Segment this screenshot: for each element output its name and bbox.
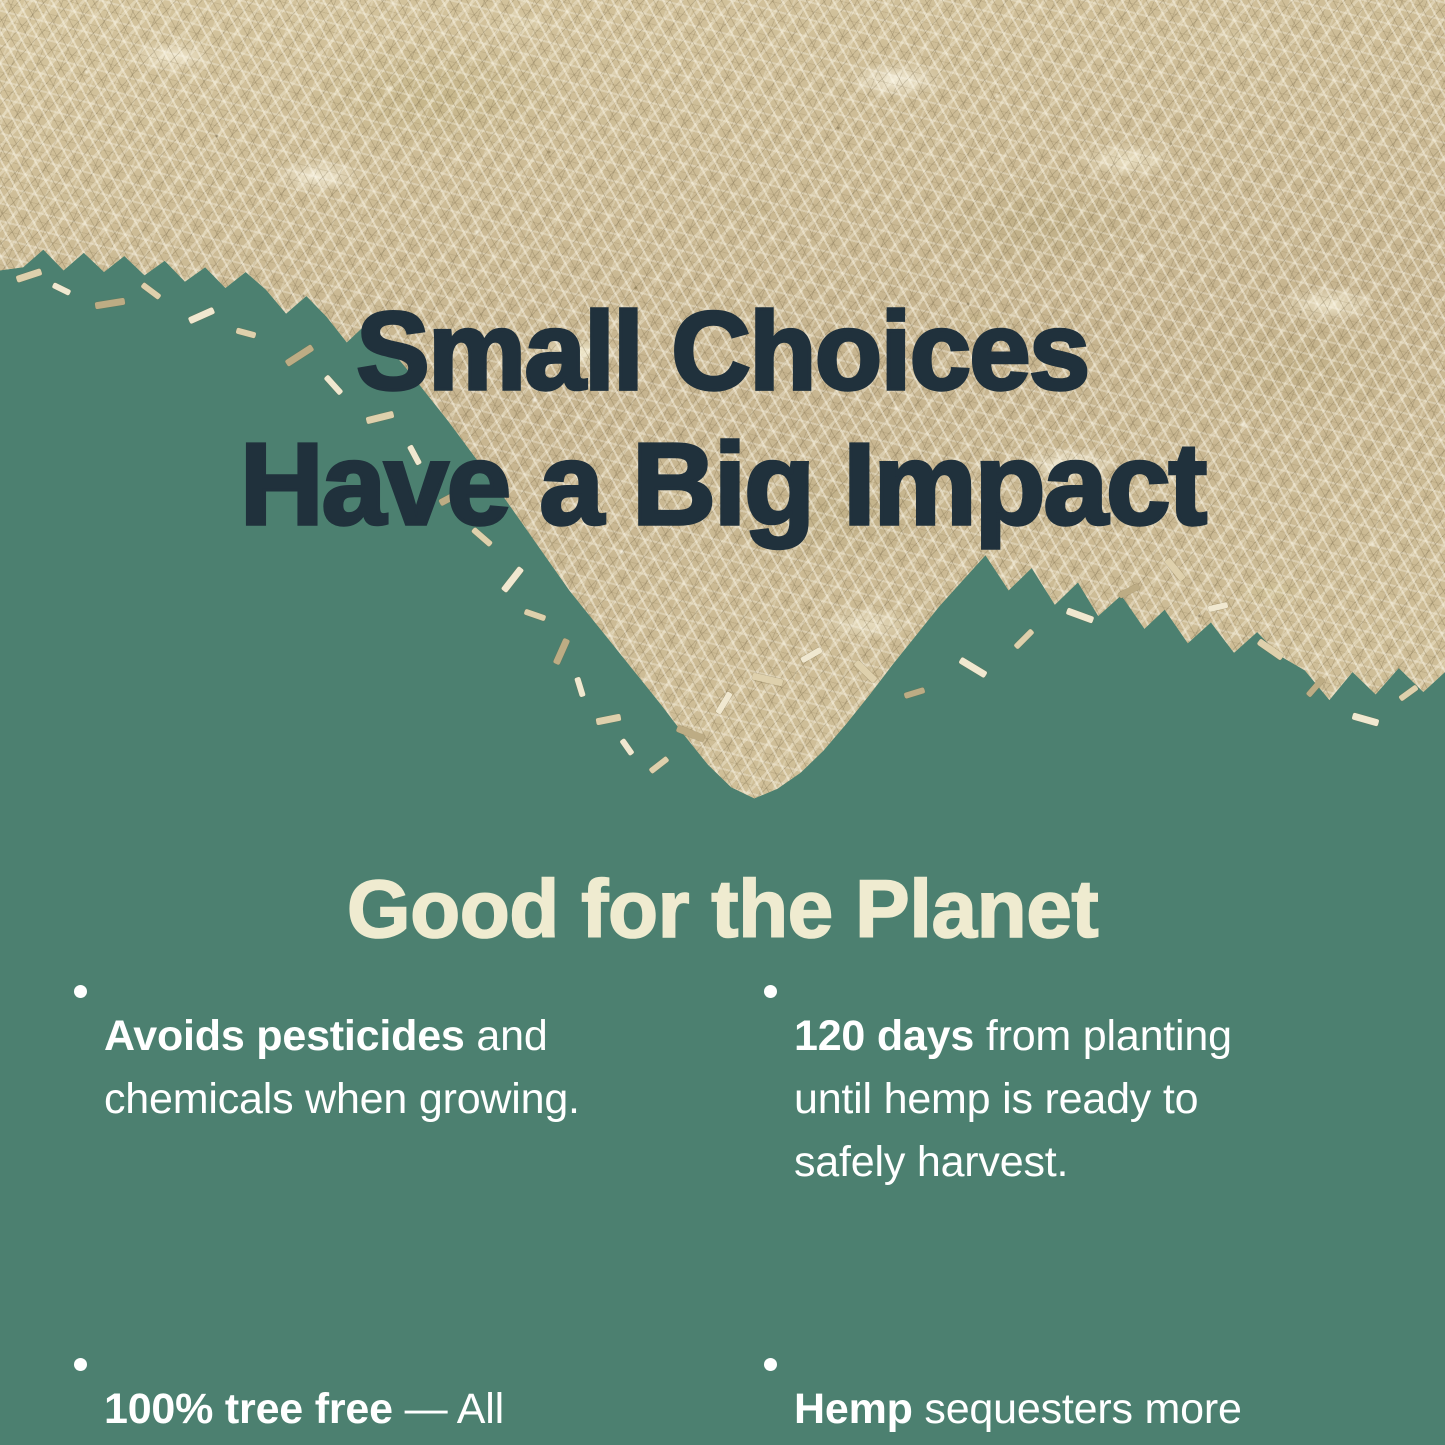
bullet-dot-icon: [74, 1358, 87, 1371]
bullet-item-tree-free: 100% tree free — All Walks combats defor…: [74, 1335, 764, 1445]
bullet-item-hemp-sequesters: Hemp sequesters more CO2 per acre than t…: [764, 1335, 1374, 1445]
hemp-chip: [1013, 628, 1034, 649]
hemp-chip: [1066, 607, 1095, 623]
headline: Small Choices Have a Big Impact: [0, 286, 1445, 550]
hemp-chip: [1352, 712, 1380, 726]
bullet-dot-icon: [74, 985, 87, 998]
bullet-item-avoids-pesticides: Avoids pesticides and chemicals when gro…: [74, 962, 764, 1237]
hemp-chip: [1398, 684, 1419, 701]
hemp-chip: [553, 638, 570, 666]
bullet-text: 120 days from planting until hemp is rea…: [794, 1005, 1264, 1194]
bullet-item-120-days: 120 days from planting until hemp is rea…: [764, 962, 1374, 1237]
bullet-text: Hemp sequesters more CO2 per acre than t…: [794, 1378, 1264, 1445]
hemp-chip: [16, 268, 43, 283]
bullet-text: Avoids pesticides and chemicals when gro…: [104, 1005, 624, 1131]
headline-line-2: Have a Big Impact: [0, 418, 1445, 550]
subhead: Good for the Planet: [0, 863, 1445, 957]
hemp-chip: [958, 657, 987, 678]
hemp-chip: [524, 609, 547, 622]
bullet-bold-lead: Avoids pesticides: [104, 1012, 465, 1060]
headline-line-1: Small Choices: [0, 286, 1445, 418]
bullet-dot-icon: [764, 1358, 777, 1371]
bullet-bold-lead: 100% tree free: [104, 1385, 393, 1433]
hemp-chip: [648, 756, 669, 774]
hemp-chip: [501, 566, 524, 593]
hemp-chip: [574, 677, 586, 698]
bullet-text: 100% tree free — All Walks combats defor…: [104, 1378, 624, 1445]
hemp-chip: [596, 714, 622, 726]
bullet-dot-icon: [764, 985, 777, 998]
benefits-bullet-grid: Avoids pesticides and chemicals when gro…: [74, 962, 1374, 1445]
bullet-bold-lead: 120 days: [794, 1012, 974, 1060]
bullet-bold-lead: Hemp: [794, 1385, 913, 1433]
hemp-chip: [619, 738, 634, 756]
hemp-chip: [904, 687, 926, 699]
poster-canvas: Small Choices Have a Big Impact Good for…: [0, 0, 1445, 1445]
